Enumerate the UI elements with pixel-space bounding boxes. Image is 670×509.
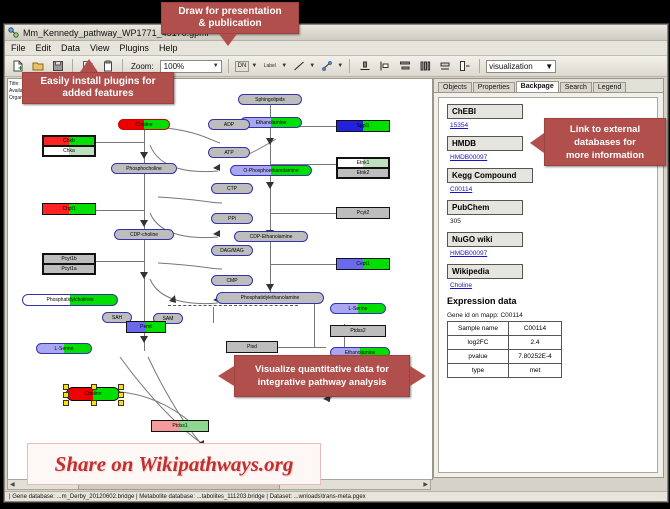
- callout-draw-line1: Draw for presentation: [178, 6, 281, 18]
- cell-key-log2fc: log2FC: [448, 336, 509, 350]
- status-bar-text: | Gene database: ...m_Derby_20120602.bri…: [9, 494, 366, 500]
- gene-stack-etnk[interactable]: Etnk1 Etnk2: [336, 157, 390, 179]
- gene-box-pcyt1a[interactable]: Pcyt1a: [43, 264, 95, 274]
- anchor-icon[interactable]: [318, 58, 335, 75]
- callout-link-external-databases: Link to external databases for more info…: [544, 118, 666, 166]
- db-header-nugo-wiki: NuGO wiki: [447, 232, 523, 247]
- db-link-wikipedia[interactable]: Choline: [450, 282, 657, 289]
- tab-properties[interactable]: Properties: [473, 82, 515, 92]
- menu-item-view[interactable]: View: [90, 43, 109, 53]
- expression-data-heading: Expression data: [447, 296, 657, 306]
- tab-search[interactable]: Search: [560, 82, 592, 92]
- label-icon[interactable]: Label: [260, 58, 279, 75]
- chevron-down-icon-label[interactable]: ▼: [281, 63, 287, 69]
- node-dag-mag[interactable]: DAG/MAG: [211, 245, 253, 256]
- callout-visualize-arrow-right-icon: [410, 366, 426, 386]
- gene-box-ptdss1[interactable]: Ptdss1: [151, 420, 209, 432]
- callout-draw-for-publication: Draw for presentation & publication: [161, 2, 299, 34]
- db-link-kegg[interactable]: C00114: [450, 186, 657, 193]
- callout-visualize-quantitative-data: Visualize quantitative data for integrat…: [234, 355, 410, 397]
- gene-box-ptdss2[interactable]: Ptdss2: [330, 325, 386, 337]
- node-phosphatidylethanolamine[interactable]: Phosphatidylethanolamine: [216, 292, 324, 304]
- stack-icon[interactable]: [436, 58, 453, 75]
- node-cdp-choline[interactable]: CDP-choline: [114, 229, 174, 240]
- callout-plugins-line2: added features: [62, 88, 133, 100]
- gene-box-chkb[interactable]: Chkb: [43, 136, 95, 146]
- callout-visualize-line2: integrative pathway analysis: [258, 376, 387, 389]
- node-phosphatidylcholines[interactable]: Phosphatidylcholines: [22, 294, 118, 306]
- menu-bar[interactable]: File Edit Data View Plugins Help: [5, 41, 667, 56]
- node-atp[interactable]: ATP: [208, 147, 250, 158]
- align-bottom-icon[interactable]: [356, 58, 373, 75]
- chevron-down-icon-visualization[interactable]: ▼: [545, 62, 553, 71]
- node-cmp[interactable]: CMP: [211, 275, 253, 286]
- node-adp[interactable]: ADP: [208, 119, 250, 130]
- tab-legend[interactable]: Legend: [593, 82, 626, 92]
- zoom-combobox[interactable]: 100% ▼: [160, 60, 222, 73]
- selection-handle-mr[interactable]: [118, 392, 124, 398]
- screenshot-root: Mm_Kennedy_pathway_WP1771_45176.gpml Fil…: [0, 0, 670, 509]
- align-left-icon[interactable]: [376, 58, 393, 75]
- db-header-hmdb: HMDB: [447, 136, 523, 151]
- node-l-serine-left[interactable]: L-Serine: [36, 343, 92, 354]
- node-ctp[interactable]: CTP: [211, 183, 253, 194]
- chevron-down-icon[interactable]: ▼: [213, 63, 219, 69]
- pathway-canvas[interactable]: Title: Availa Organi: [7, 78, 433, 480]
- node-choline-top[interactable]: Choline: [118, 119, 170, 130]
- gene-box-etnk2[interactable]: Etnk2: [337, 168, 389, 178]
- toolbar-separator-3: [228, 59, 229, 73]
- selection-handle-br[interactable]: [118, 400, 124, 406]
- share-banner: Share on Wikipathways.org: [27, 443, 321, 485]
- db-link-nugo-wiki[interactable]: HMDB00097: [450, 250, 657, 257]
- cell-value-type: met: [509, 364, 562, 378]
- gene-box-pcyt2[interactable]: Pcyt2: [336, 207, 390, 219]
- callout-link-line2: databases for: [574, 136, 636, 149]
- distribute-vertical-icon[interactable]: [396, 58, 413, 75]
- distribute-horizontal-icon[interactable]: [416, 58, 433, 75]
- gene-box-pemt[interactable]: Pemt: [126, 321, 166, 333]
- toolbar-separator-5: [479, 59, 480, 73]
- selection-handle-tl[interactable]: [63, 384, 69, 390]
- toolbar-separator-1: [72, 59, 73, 73]
- menu-item-file[interactable]: File: [11, 43, 26, 53]
- selection-handle-tm[interactable]: [91, 384, 97, 390]
- gene-stack-pcyt1[interactable]: Pcyt1b Pcyt1a: [42, 253, 96, 275]
- order-front-icon[interactable]: [456, 58, 473, 75]
- gene-box-etnk1[interactable]: Etnk1: [337, 158, 389, 168]
- node-phosphocholine[interactable]: Phosphocholine: [111, 163, 177, 174]
- zoom-value: 100%: [164, 62, 184, 71]
- node-l-serine-right[interactable]: L-Serine: [330, 303, 386, 314]
- title-bar: Mm_Kennedy_pathway_WP1771_45176.gpml: [5, 25, 667, 41]
- menu-item-plugins[interactable]: Plugins: [119, 43, 149, 53]
- selection-handle-ml[interactable]: [63, 392, 69, 398]
- cell-key-type: type: [448, 364, 509, 378]
- callout-draw-arrow-icon: [219, 34, 237, 46]
- gene-box-pisd[interactable]: Pisd: [226, 341, 278, 353]
- db-header-pubchem: PubChem: [447, 200, 523, 215]
- scroll-right-arrow-icon[interactable]: ▶: [421, 481, 430, 488]
- callout-link-line1: Link to external: [570, 123, 640, 136]
- menu-item-edit[interactable]: Edit: [36, 43, 52, 53]
- gene-box-sgpl1[interactable]: Sgpl1: [336, 120, 390, 132]
- scroll-left-arrow-icon[interactable]: ◀: [8, 481, 17, 488]
- visualization-value: visualization: [489, 62, 533, 71]
- node-o-phosphoethanolamine[interactable]: O-Phosphoethanolamine: [230, 165, 312, 176]
- selection-handle-bl[interactable]: [63, 400, 69, 406]
- gene-box-cept1[interactable]: Cept1: [336, 258, 390, 270]
- visualization-combobox[interactable]: visualization ▼: [486, 60, 556, 73]
- gene-id-on-mapp: Gene id on mapp: C00114: [447, 312, 657, 319]
- menu-item-data[interactable]: Data: [61, 43, 80, 53]
- callout-draw-line2: & publication: [198, 18, 261, 30]
- pathvisio-icon: [8, 27, 19, 38]
- gene-box-chka[interactable]: Chka: [43, 146, 95, 156]
- datanode-icon[interactable]: DN: [235, 61, 250, 72]
- callout-install-plugins: Easily install plugins for added feature…: [22, 72, 174, 104]
- callout-visualize-arrow-icon: [218, 366, 234, 386]
- table-row: log2FC 2.4: [448, 336, 562, 350]
- selection-handle-tr[interactable]: [118, 384, 124, 390]
- gene-box-pcyt1b[interactable]: Pcyt1b: [43, 254, 95, 264]
- callout-visualize-line1: Visualize quantitative data for: [255, 363, 389, 376]
- share-banner-text: Share on Wikipathways.org: [55, 452, 294, 477]
- status-bar: | Gene database: ...m_Derby_20120602.bri…: [5, 491, 667, 501]
- gene-stack-chk[interactable]: Chkb Chka: [42, 135, 96, 157]
- node-cdp-ethanolamine[interactable]: CDP-Ethanolamine: [234, 231, 308, 242]
- tab-backpage[interactable]: Backpage: [516, 81, 559, 92]
- gene-box-chpt1[interactable]: Chpt1: [42, 203, 96, 215]
- table-row: type met: [448, 364, 562, 378]
- toolbar-separator-4: [349, 59, 350, 73]
- menu-item-help[interactable]: Help: [159, 43, 178, 53]
- table-row: pvalue 7.80252E-4: [448, 350, 562, 364]
- chevron-down-icon-line[interactable]: ▼: [309, 63, 315, 69]
- db-header-chebi: ChEBI: [447, 104, 523, 119]
- table-row: Sample name C00114: [448, 322, 562, 336]
- db-header-wikipedia: Wikipedia: [447, 264, 523, 279]
- zoom-label: Zoom:: [131, 62, 154, 71]
- cell-value-log2fc: 2.4: [509, 336, 562, 350]
- selection-handle-bm[interactable]: [91, 400, 97, 406]
- tab-objects[interactable]: Objects: [438, 82, 472, 92]
- callout-link-arrow-icon: [530, 133, 544, 153]
- chevron-down-icon-anchor[interactable]: ▼: [337, 63, 343, 69]
- chevron-down-icon-datanode[interactable]: ▼: [251, 63, 257, 69]
- callout-plugins-arrow-icon: [80, 59, 98, 72]
- callout-plugins-line1: Easily install plugins for: [40, 76, 155, 88]
- line-icon[interactable]: [290, 58, 307, 75]
- node-ppi[interactable]: PPi: [211, 213, 253, 224]
- side-panel-tabs[interactable]: Objects Properties Backpage Search Legen…: [434, 79, 663, 93]
- toolbar-separator-2: [122, 59, 123, 73]
- cell-value-pvalue: 7.80252E-4: [509, 350, 562, 364]
- expression-data-table: Sample name C00114 log2FC 2.4 pvalue 7.8…: [447, 321, 562, 378]
- node-sphingolipids[interactable]: Sphingolipids: [238, 94, 302, 105]
- db-header-kegg-compound: Kegg Compound: [447, 168, 533, 183]
- callout-link-line3: more information: [566, 149, 644, 162]
- cell-key-pvalue: pvalue: [448, 350, 509, 364]
- db-value-pubchem: 305: [450, 218, 657, 225]
- cell-key-sample-name: Sample name: [448, 322, 509, 336]
- cell-value-sample-name: C00114: [509, 322, 562, 336]
